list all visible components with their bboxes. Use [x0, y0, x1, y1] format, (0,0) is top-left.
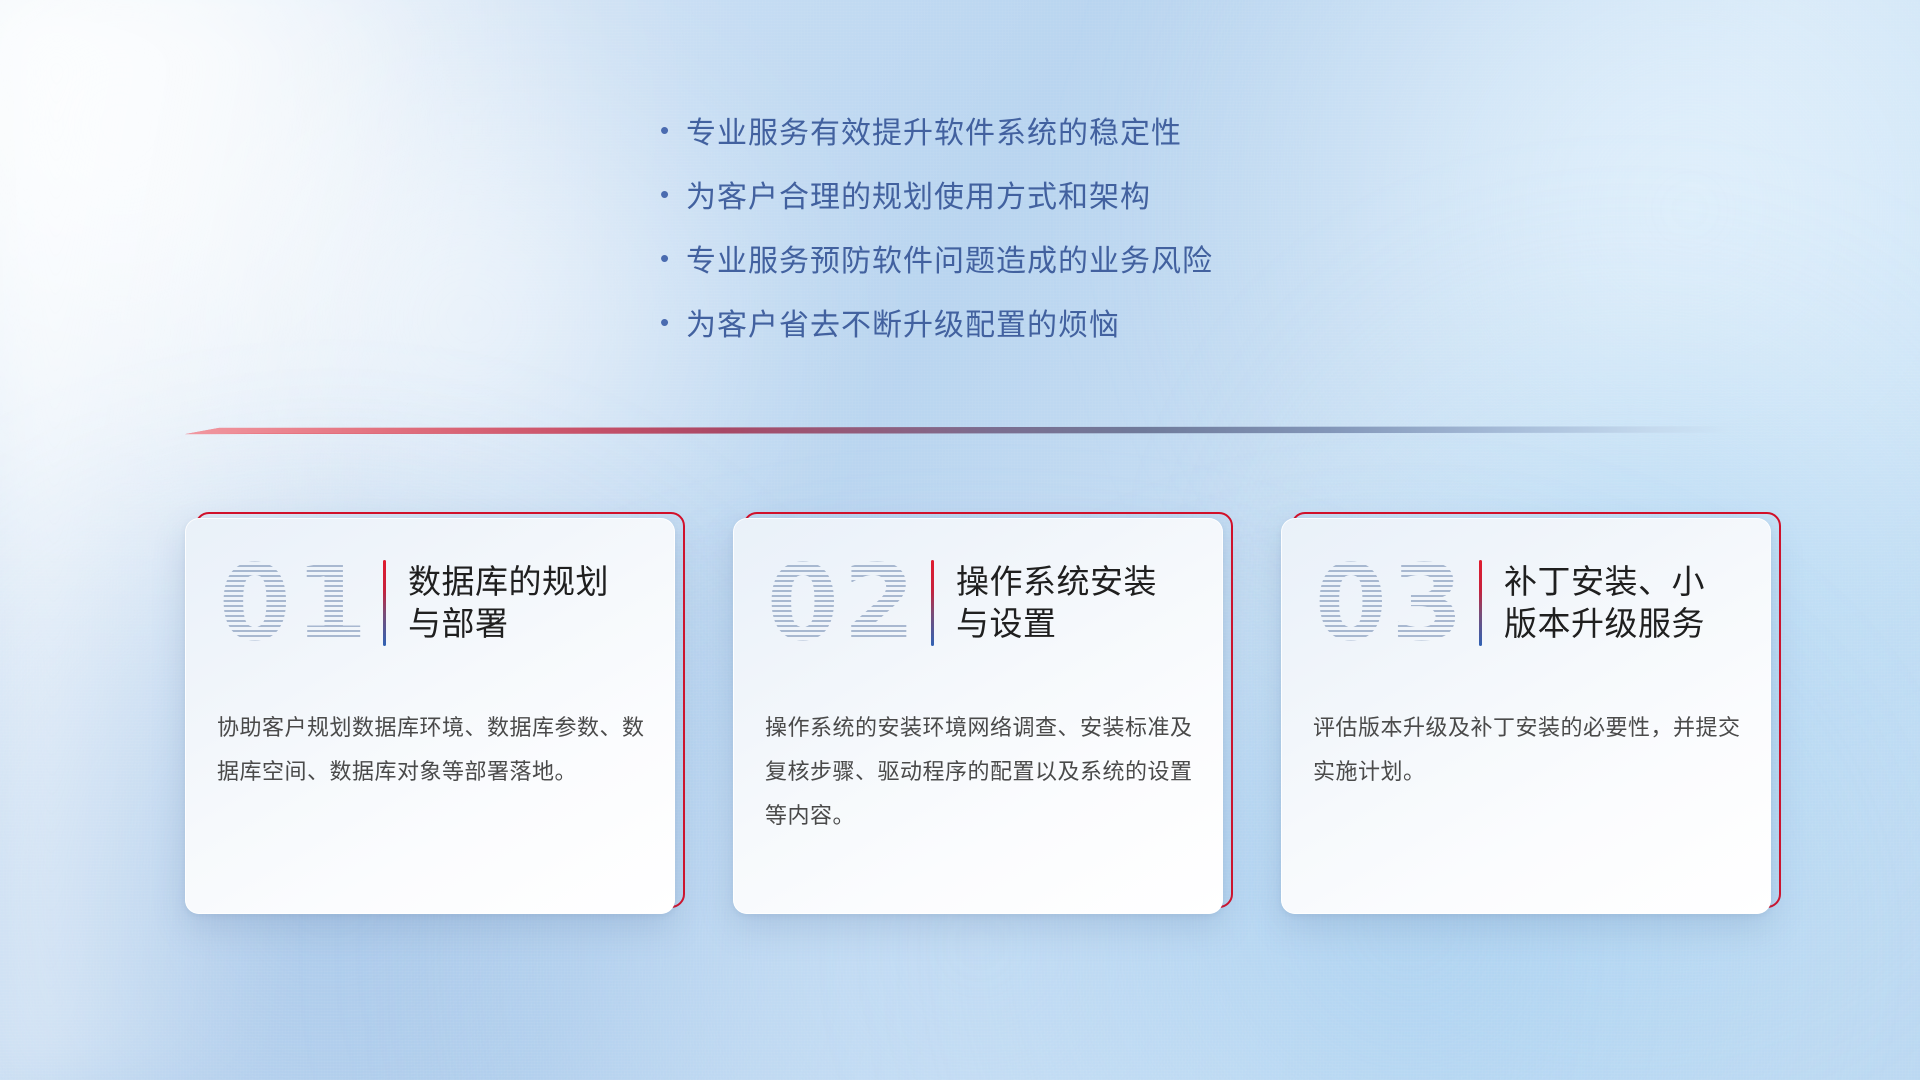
card-header: 01 数据库的规划与部署 [185, 528, 675, 678]
service-card-03[interactable]: 03 补丁安装、小版本升级服务 评估版本升级及补丁安装的必要性，并提交实施计划。 [1281, 518, 1771, 914]
service-card-02[interactable]: 02 操作系统安装与设置 操作系统的安装环境网络调查、安装标准及复核步骤、驱动程… [733, 518, 1223, 914]
bullet-dot-icon: • [660, 245, 686, 271]
card-description: 协助客户规划数据库环境、数据库参数、数据库空间、数据库对象等部署落地。 [217, 706, 645, 794]
card-description: 操作系统的安装环境网络调查、安装标准及复核步骤、驱动程序的配置以及系统的设置等内… [765, 706, 1193, 838]
card-number: 03 [1305, 544, 1477, 662]
card-title: 操作系统安装与设置 [956, 561, 1186, 645]
list-item: • 专业服务有效提升软件系统的稳定性 [660, 108, 1560, 172]
card-description: 评估版本升级及补丁安装的必要性，并提交实施计划。 [1313, 706, 1741, 794]
bullet-dot-icon: • [660, 309, 686, 335]
list-item: • 为客户省去不断升级配置的烦恼 [660, 300, 1560, 364]
section-divider [185, 424, 1730, 438]
card-panel: 01 数据库的规划与部署 协助客户规划数据库环境、数据库参数、数据库空间、数据库… [185, 518, 675, 914]
card-accent-rule [383, 560, 386, 646]
card-number: 02 [757, 544, 929, 662]
card-panel: 02 操作系统安装与设置 操作系统的安装环境网络调查、安装标准及复核步骤、驱动程… [733, 518, 1223, 914]
card-number: 01 [209, 544, 381, 662]
card-title: 补丁安装、小版本升级服务 [1504, 561, 1734, 645]
card-header: 03 补丁安装、小版本升级服务 [1281, 528, 1771, 678]
bullet-text: 专业服务有效提升软件系统的稳定性 [686, 108, 1182, 152]
card-panel: 03 补丁安装、小版本升级服务 评估版本升级及补丁安装的必要性，并提交实施计划。 [1281, 518, 1771, 914]
benefit-bullet-list: • 专业服务有效提升软件系统的稳定性 • 为客户合理的规划使用方式和架构 • 专… [660, 108, 1560, 364]
bullet-dot-icon: • [660, 181, 686, 207]
service-card-01[interactable]: 01 数据库的规划与部署 协助客户规划数据库环境、数据库参数、数据库空间、数据库… [185, 518, 675, 914]
card-accent-rule [1479, 560, 1482, 646]
card-header: 02 操作系统安装与设置 [733, 528, 1223, 678]
list-item: • 专业服务预防软件问题造成的业务风险 [660, 236, 1560, 300]
service-card-list: 01 数据库的规划与部署 协助客户规划数据库环境、数据库参数、数据库空间、数据库… [185, 518, 1771, 914]
bullet-text: 为客户省去不断升级配置的烦恼 [686, 300, 1120, 344]
bullet-text: 专业服务预防软件问题造成的业务风险 [686, 236, 1213, 280]
card-title: 数据库的规划与部署 [408, 561, 638, 645]
bullet-text: 为客户合理的规划使用方式和架构 [686, 172, 1151, 216]
list-item: • 为客户合理的规划使用方式和架构 [660, 172, 1560, 236]
bullet-dot-icon: • [660, 117, 686, 143]
card-accent-rule [931, 560, 934, 646]
